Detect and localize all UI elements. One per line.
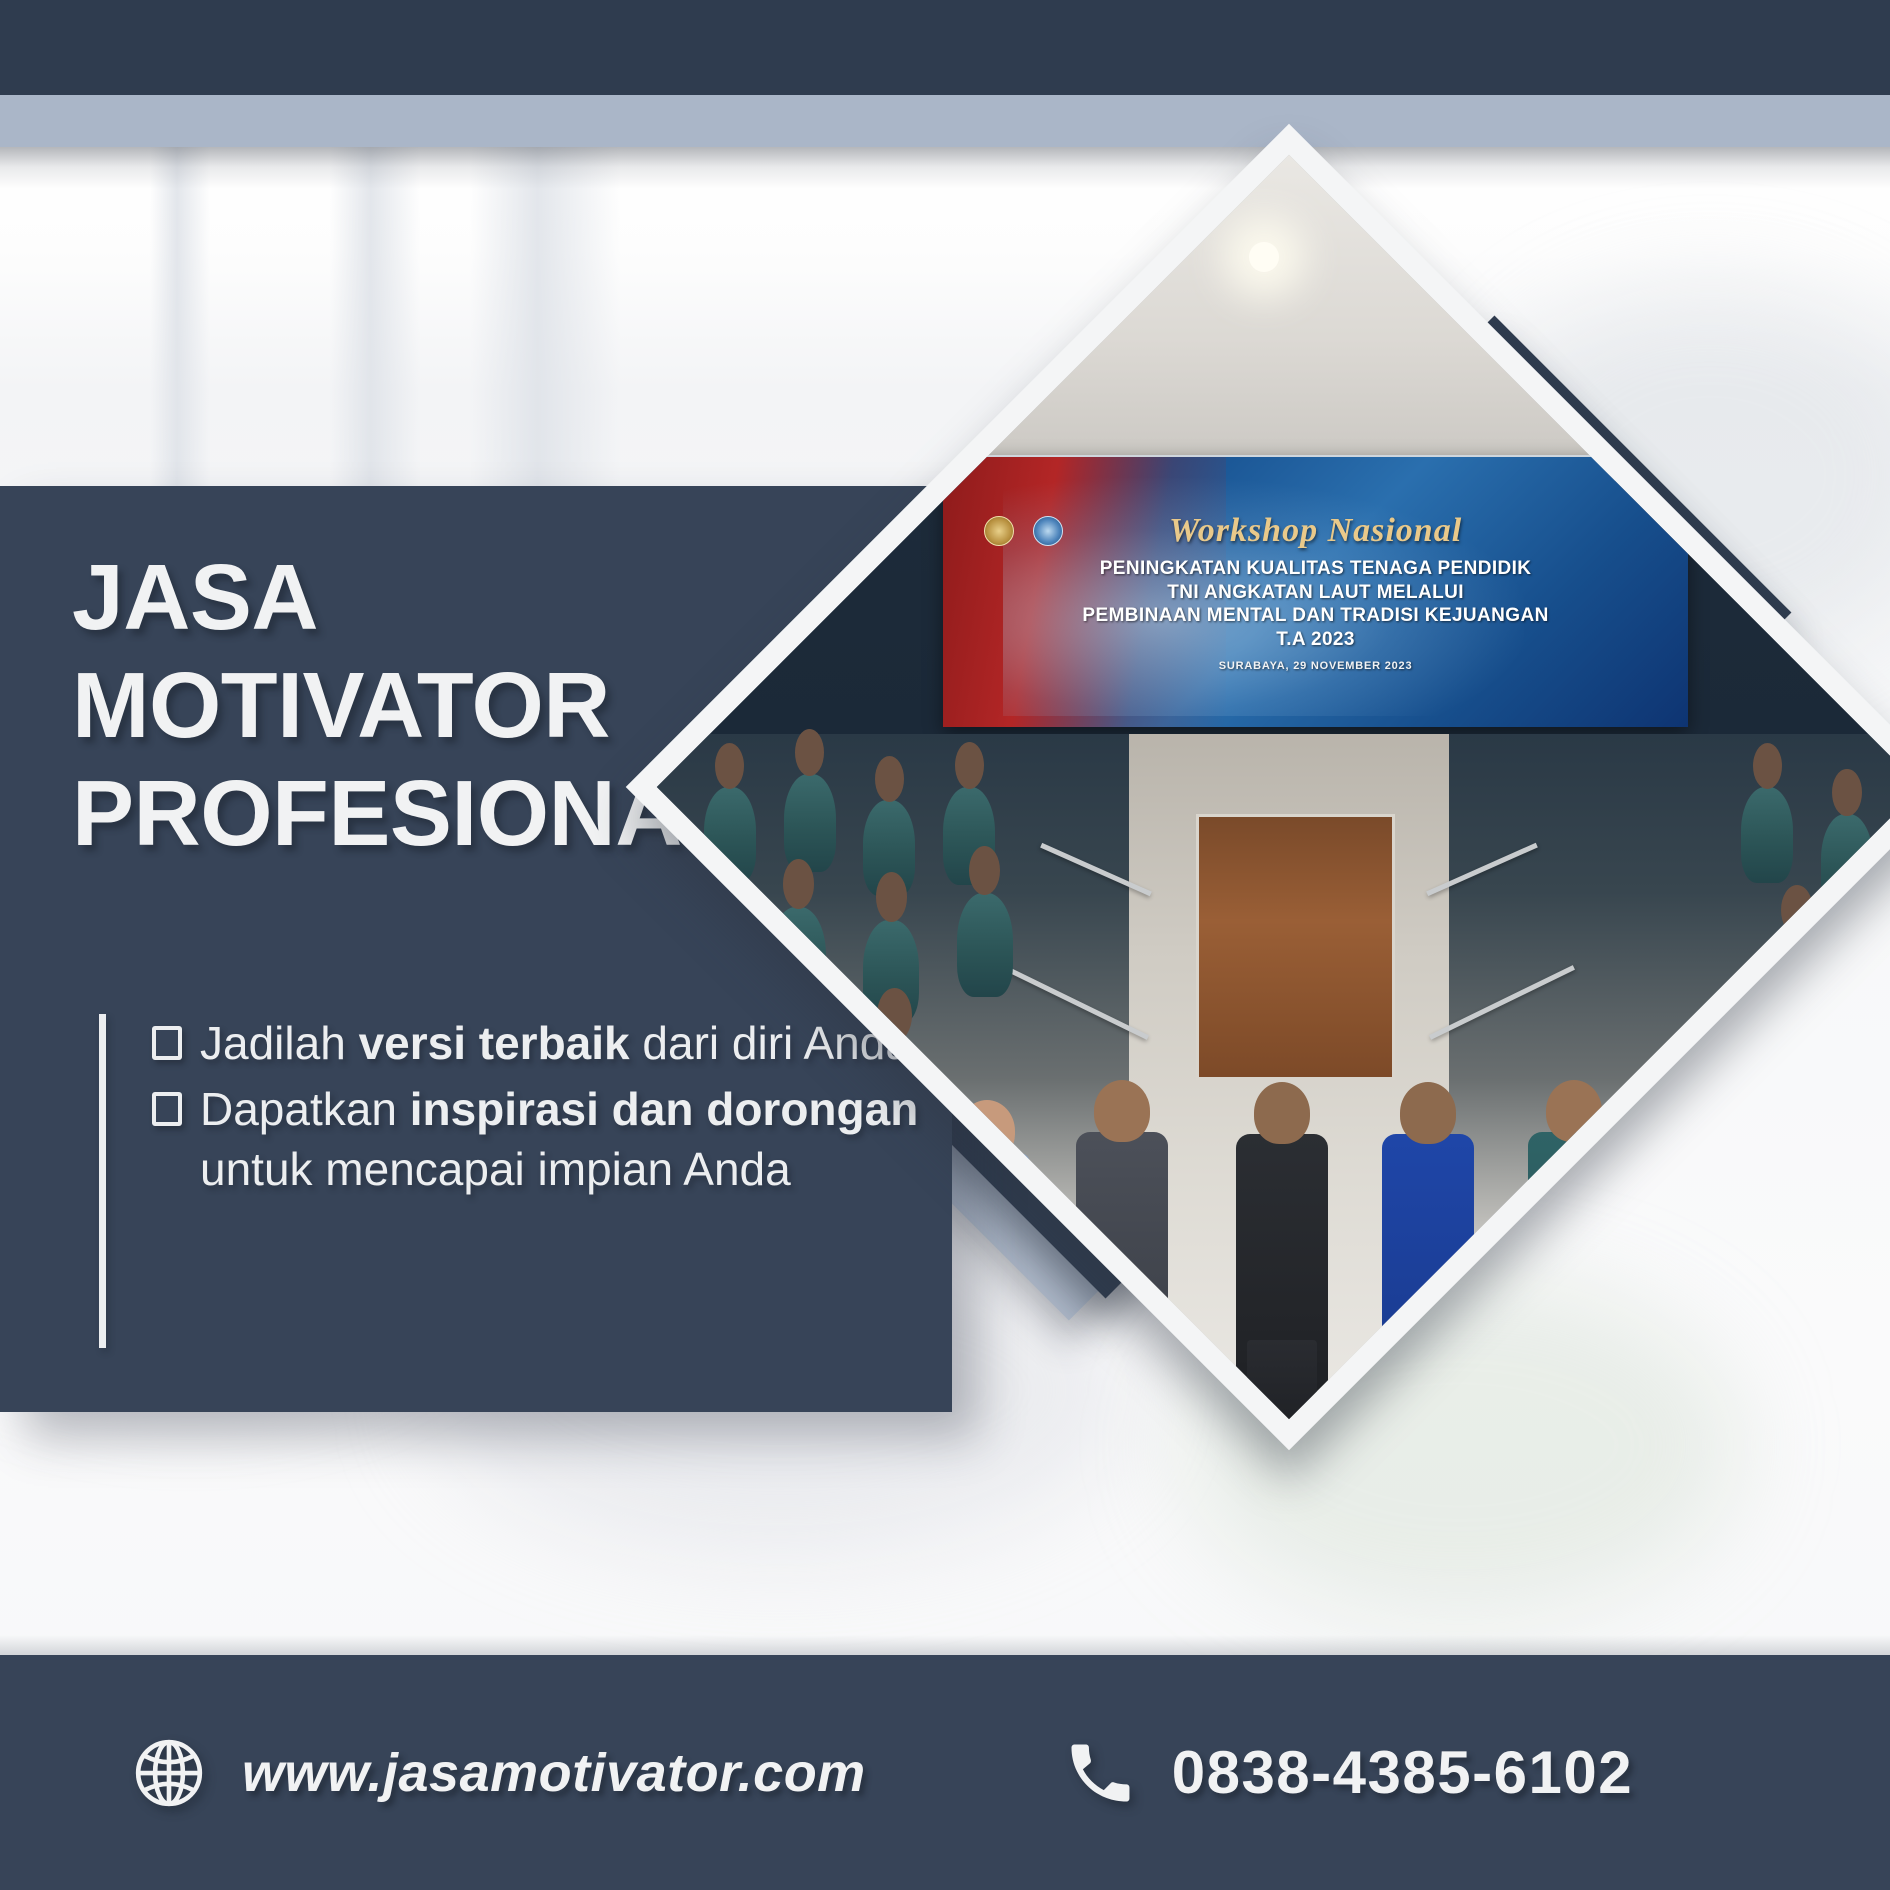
- bullet-1-part1: Jadilah: [200, 1017, 359, 1069]
- banner-body: PENINGKATAN KUALITAS TENAGA PENDIDIK TNI…: [1082, 557, 1548, 652]
- audience-member: [1741, 787, 1793, 883]
- checkbox-square-icon: [152, 1092, 182, 1126]
- banner-seal-icon: [984, 516, 1014, 546]
- bullet-1-bold: versi terbaik: [359, 1017, 630, 1069]
- bullet-2-part1: Dapatkan: [200, 1083, 410, 1135]
- banner-title: Workshop Nasional: [1169, 512, 1462, 550]
- list-item: Dapatkan inspirasi dan dorongan untuk me…: [152, 1080, 929, 1200]
- top-bar-shadow: [0, 147, 1890, 189]
- banner-line-4: T.A 2023: [1082, 628, 1548, 652]
- contact-footer: www.jasamotivator.com 0838-4385-6102: [0, 1655, 1890, 1890]
- banner-seal-icon: [1033, 516, 1063, 546]
- website-url[interactable]: www.jasamotivator.com: [242, 1742, 866, 1804]
- checkbox-square-icon: [152, 1026, 182, 1060]
- bullet-2-part2: untuk mencapai impian Anda: [200, 1143, 791, 1195]
- front-row-person: [1236, 1134, 1328, 1419]
- event-banner: Workshop Nasional PENINGKATAN KUALITAS T…: [943, 455, 1688, 728]
- accent-divider: [99, 1014, 106, 1348]
- globe-icon: [132, 1736, 206, 1810]
- banner-line-3: PEMBINAAN MENTAL DAN TRADISI KEJUANGAN: [1082, 604, 1548, 628]
- banner-subtitle: SURABAYA, 29 NOVEMBER 2023: [1219, 660, 1413, 672]
- benefits-list-wrapper: Jadilah versi terbaik dari diri Anda Dap…: [99, 1014, 929, 1348]
- phone-number[interactable]: 0838-4385-6102: [1172, 1738, 1633, 1807]
- list-item-label: Dapatkan inspirasi dan dorongan untuk me…: [200, 1080, 929, 1200]
- audience-member: [957, 893, 1013, 997]
- hall-door: [1196, 814, 1396, 1080]
- banner-line-2: TNI ANGKATAN LAUT MELALUI: [1082, 581, 1548, 605]
- benefits-list: Jadilah versi terbaik dari diri Anda Dap…: [152, 1014, 929, 1348]
- phone-icon: [1062, 1735, 1138, 1811]
- list-item: Jadilah versi terbaik dari diri Anda: [152, 1014, 929, 1074]
- bullet-2-bold: inspirasi dan dorongan: [410, 1083, 919, 1135]
- website-contact[interactable]: www.jasamotivator.com: [132, 1736, 866, 1810]
- list-item-label: Jadilah versi terbaik dari diri Anda: [200, 1014, 911, 1074]
- top-bar-light: [0, 95, 1890, 147]
- phone-contact[interactable]: 0838-4385-6102: [1062, 1735, 1633, 1811]
- top-bar-dark: [0, 0, 1890, 95]
- audience-member: [704, 787, 756, 883]
- ceiling-lamp-icon: [1249, 242, 1279, 272]
- banner-line-1: PENINGKATAN KUALITAS TENAGA PENDIDIK: [1082, 557, 1548, 581]
- audience-member: [784, 774, 836, 872]
